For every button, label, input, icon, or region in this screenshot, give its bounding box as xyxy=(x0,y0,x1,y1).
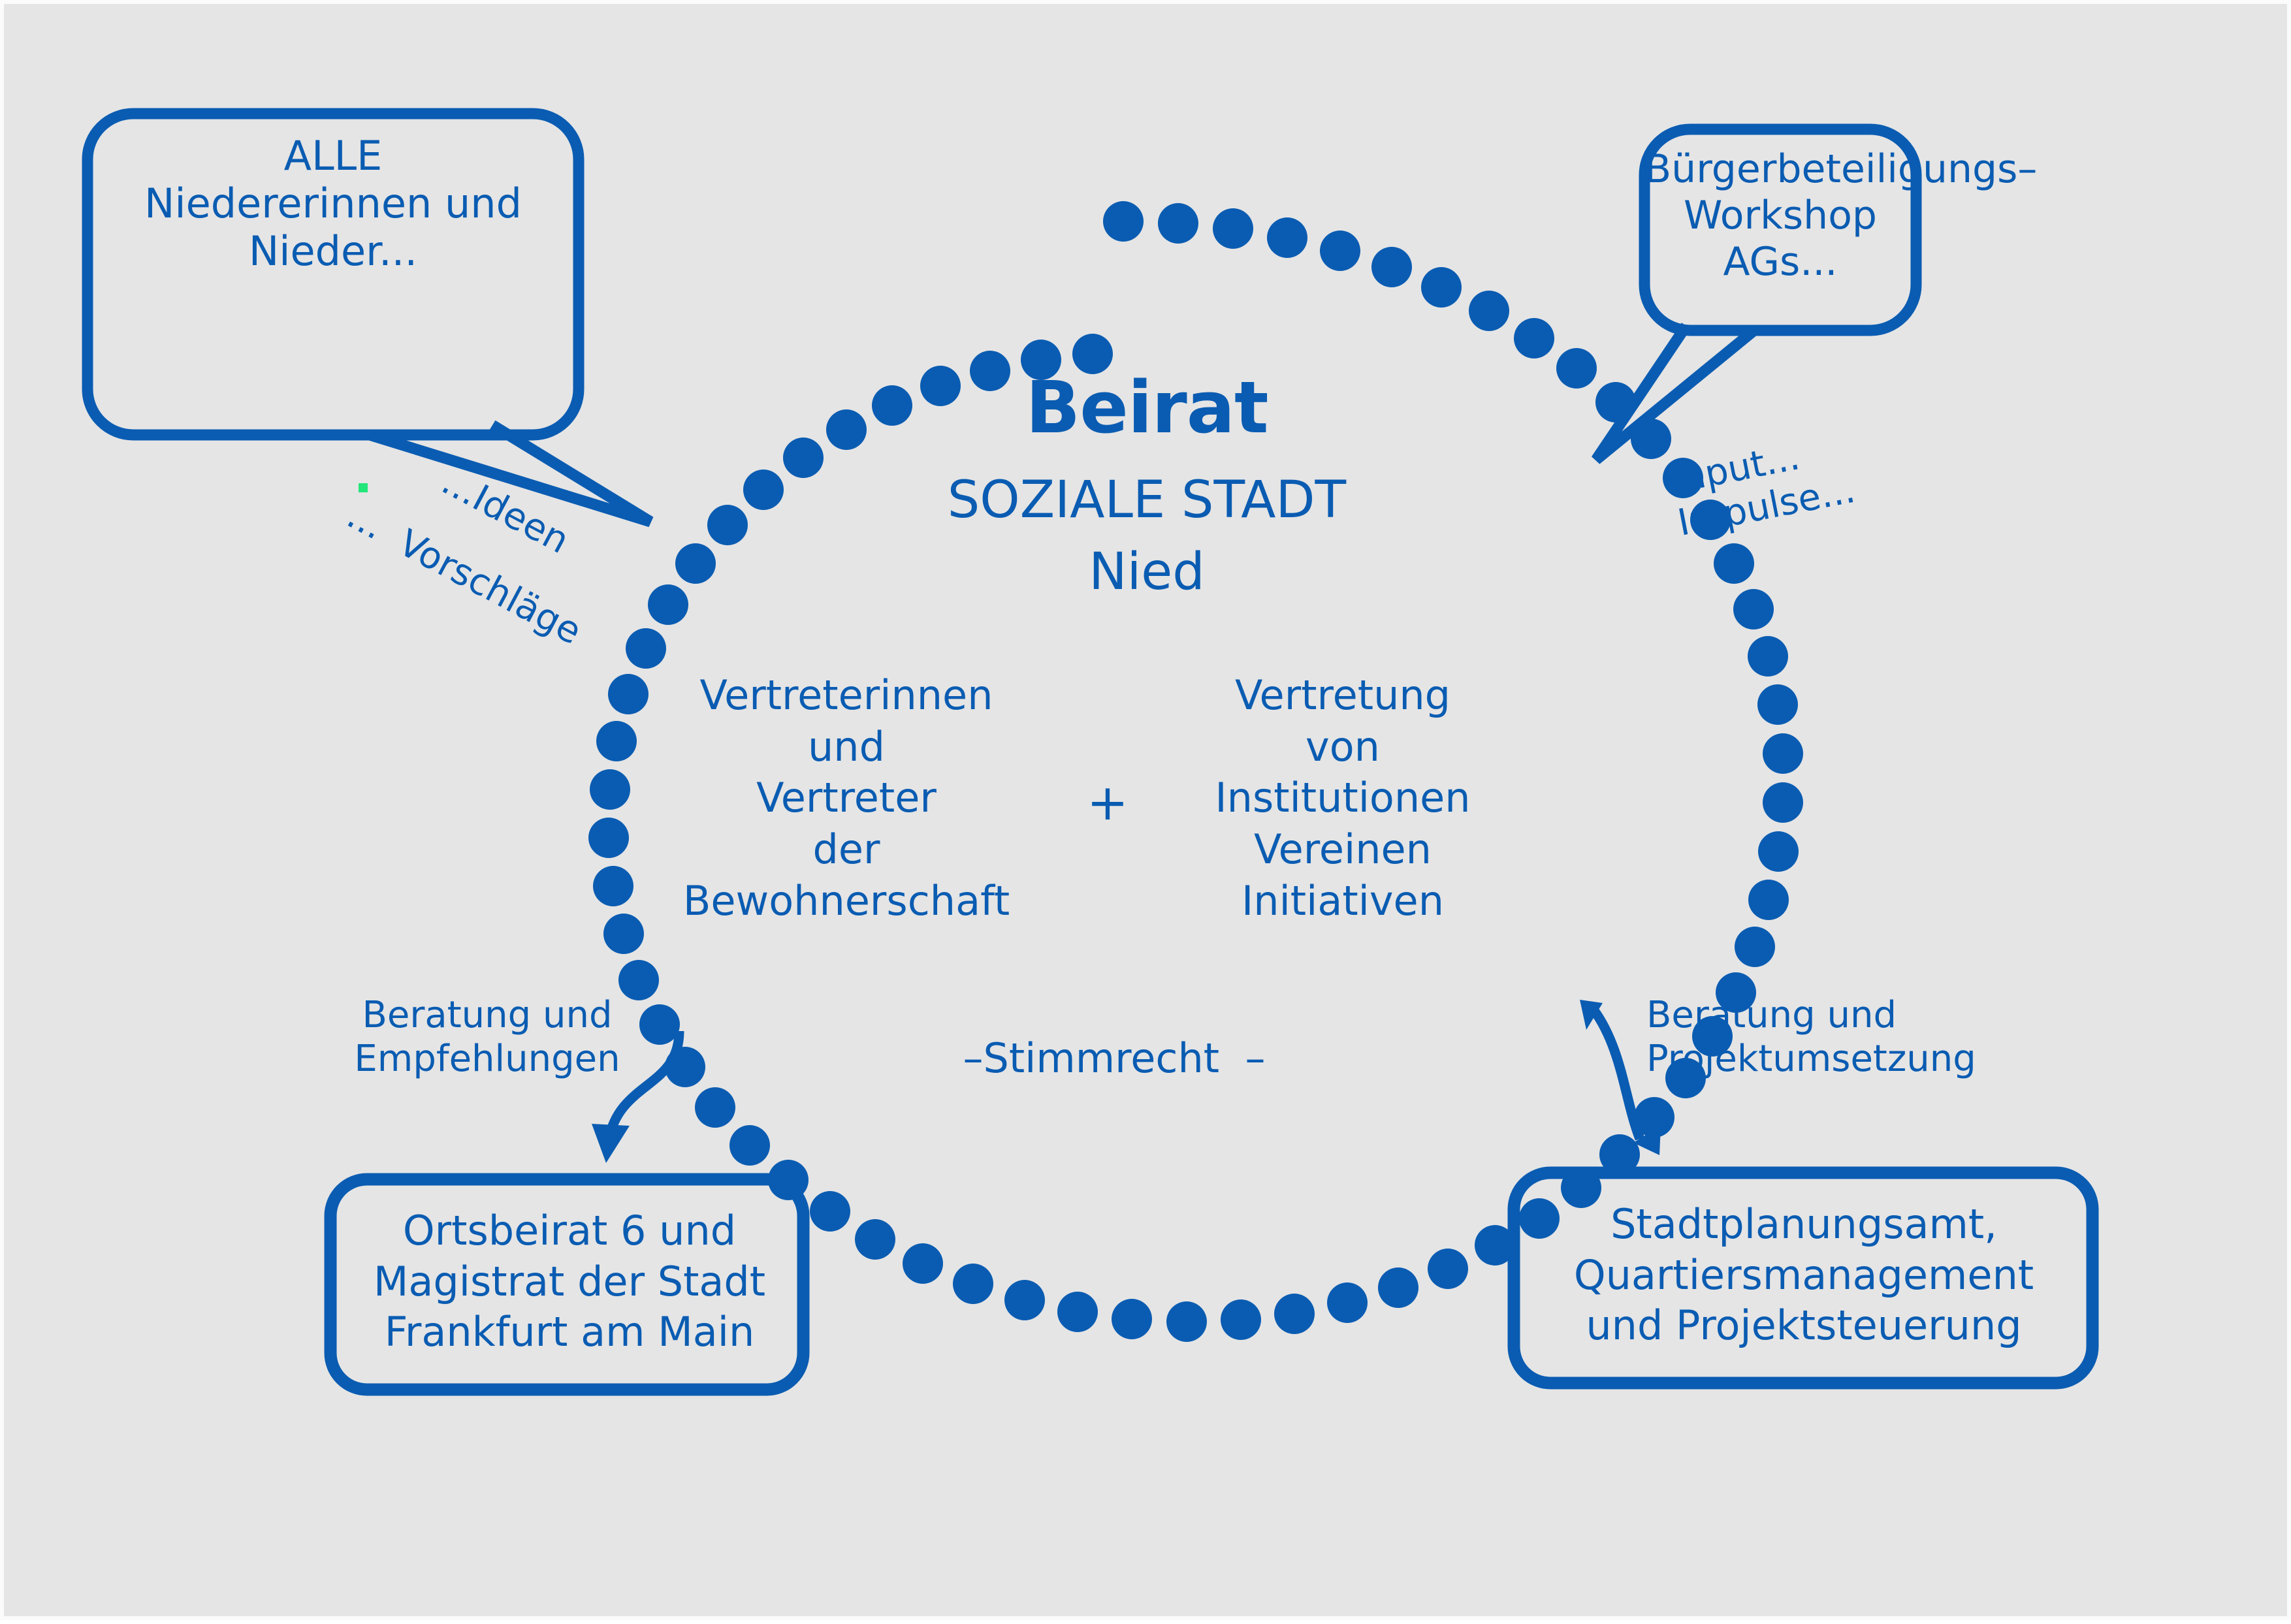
center-subtitle-line2: Nied xyxy=(859,543,1434,601)
center-column-left: Vertreterinnen und Vertreter der Bewohne… xyxy=(664,670,1029,927)
plus-operator-icon: + xyxy=(1068,774,1147,831)
center-footnote: –Stimmrecht – xyxy=(918,1036,1310,1082)
text-layer: ALLE Niedererinnen und Nieder... Bürgerb… xyxy=(4,4,2291,1624)
arrow-right-label: Beratung und Projektumsetzung xyxy=(1646,993,1986,1081)
bubble-right-label: Bürgerbeteiligungs– Workshop AGs... xyxy=(1644,146,1916,285)
center-subtitle-line1: SOZIALE STADT xyxy=(827,471,1467,530)
green-marker-icon xyxy=(359,483,368,492)
diagram-canvas: ALLE Niedererinnen und Nieder... Bürgerb… xyxy=(0,0,2291,1620)
center-column-right: Vertretung von Institutionen Vereinen In… xyxy=(1179,670,1506,927)
page-title: Beirat xyxy=(859,367,1434,449)
box-stadtplanungsamt-label: Stadtplanungsamt, Quartiersmanagement un… xyxy=(1519,1199,2089,1351)
box-ortsbeirat-label: Ortsbeirat 6 und Magistrat der Stadt Fra… xyxy=(336,1205,803,1358)
bubble-left-label: ALLE Niedererinnen und Nieder... xyxy=(88,132,579,275)
arrow-left-label: Beratung und Empfehlungen xyxy=(350,993,624,1081)
